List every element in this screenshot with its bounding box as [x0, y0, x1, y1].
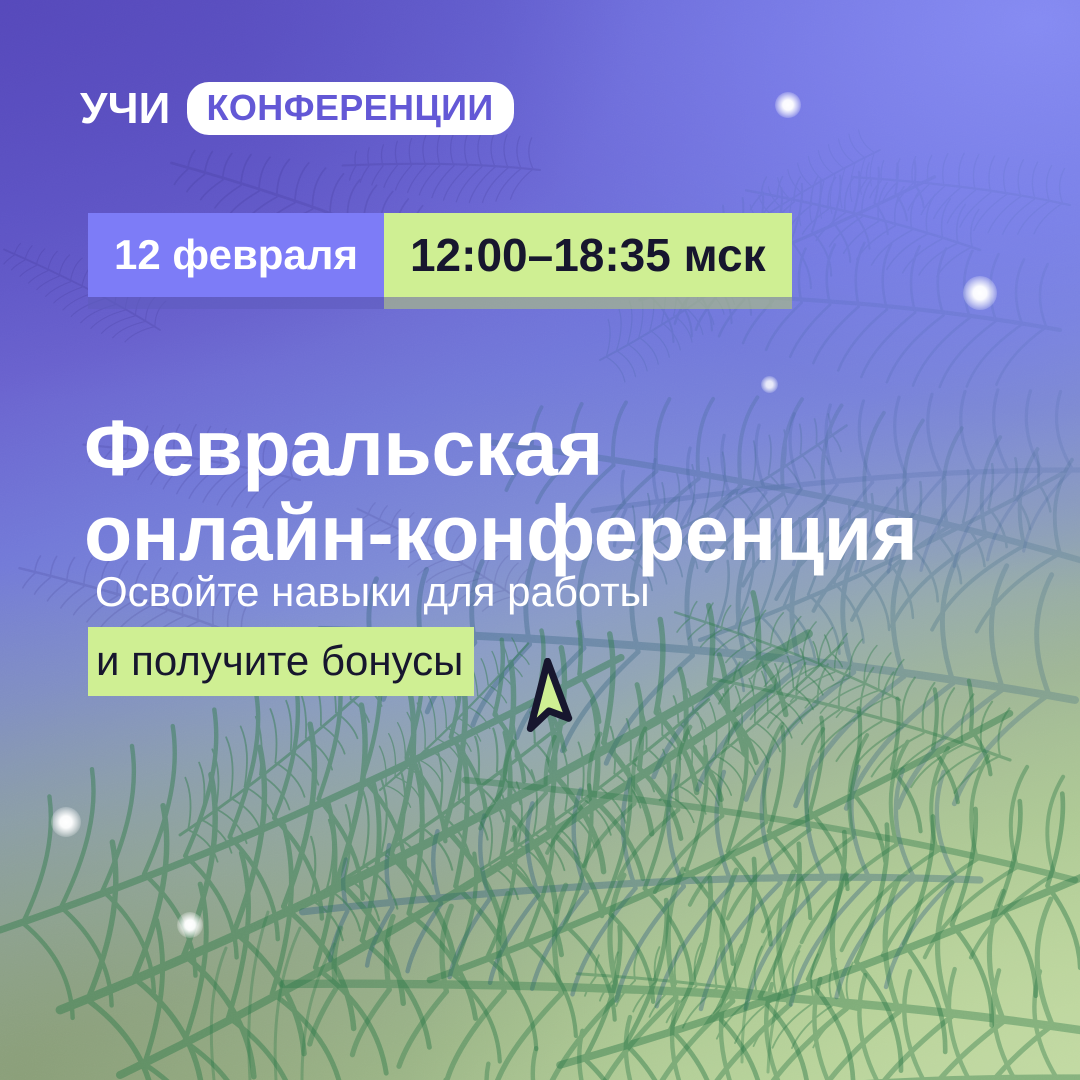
- page-subtitle: Освойте навыки для работы и получите бон…: [88, 566, 788, 696]
- brand-logo[interactable]: УЧИ КОНФЕРЕНЦИИ: [80, 82, 514, 135]
- logo-pill-conferences: КОНФЕРЕНЦИИ: [187, 82, 514, 135]
- subtitle-line-2-highlight: и получите бонусы: [88, 627, 474, 696]
- headline-line-1: Февральская: [84, 405, 984, 490]
- logo-pill-label: КОНФЕРЕНЦИИ: [207, 87, 494, 128]
- event-date-label: 12 февраля: [114, 234, 358, 276]
- event-date-badge: 12 февраля: [88, 213, 384, 297]
- event-time-badge: 12:00–18:35 мск: [384, 213, 792, 297]
- page-title: Февральская онлайн-конференция: [84, 405, 984, 576]
- promo-poster: УЧИ КОНФЕРЕНЦИИ 12 февраля 12:00–18:35 м…: [0, 0, 1080, 1080]
- event-time-label: 12:00–18:35 мск: [410, 232, 766, 278]
- headline-line-2: онлайн-конференция: [84, 490, 984, 575]
- poster-content: УЧИ КОНФЕРЕНЦИИ 12 февраля 12:00–18:35 м…: [0, 0, 1080, 1080]
- event-schedule-badges: 12 февраля 12:00–18:35 мск: [88, 213, 792, 297]
- logo-word-uchi: УЧИ: [80, 87, 171, 131]
- subtitle-line-1: Освойте навыки для работы: [88, 566, 788, 619]
- subtitle-line-2: и получите бонусы: [88, 627, 474, 696]
